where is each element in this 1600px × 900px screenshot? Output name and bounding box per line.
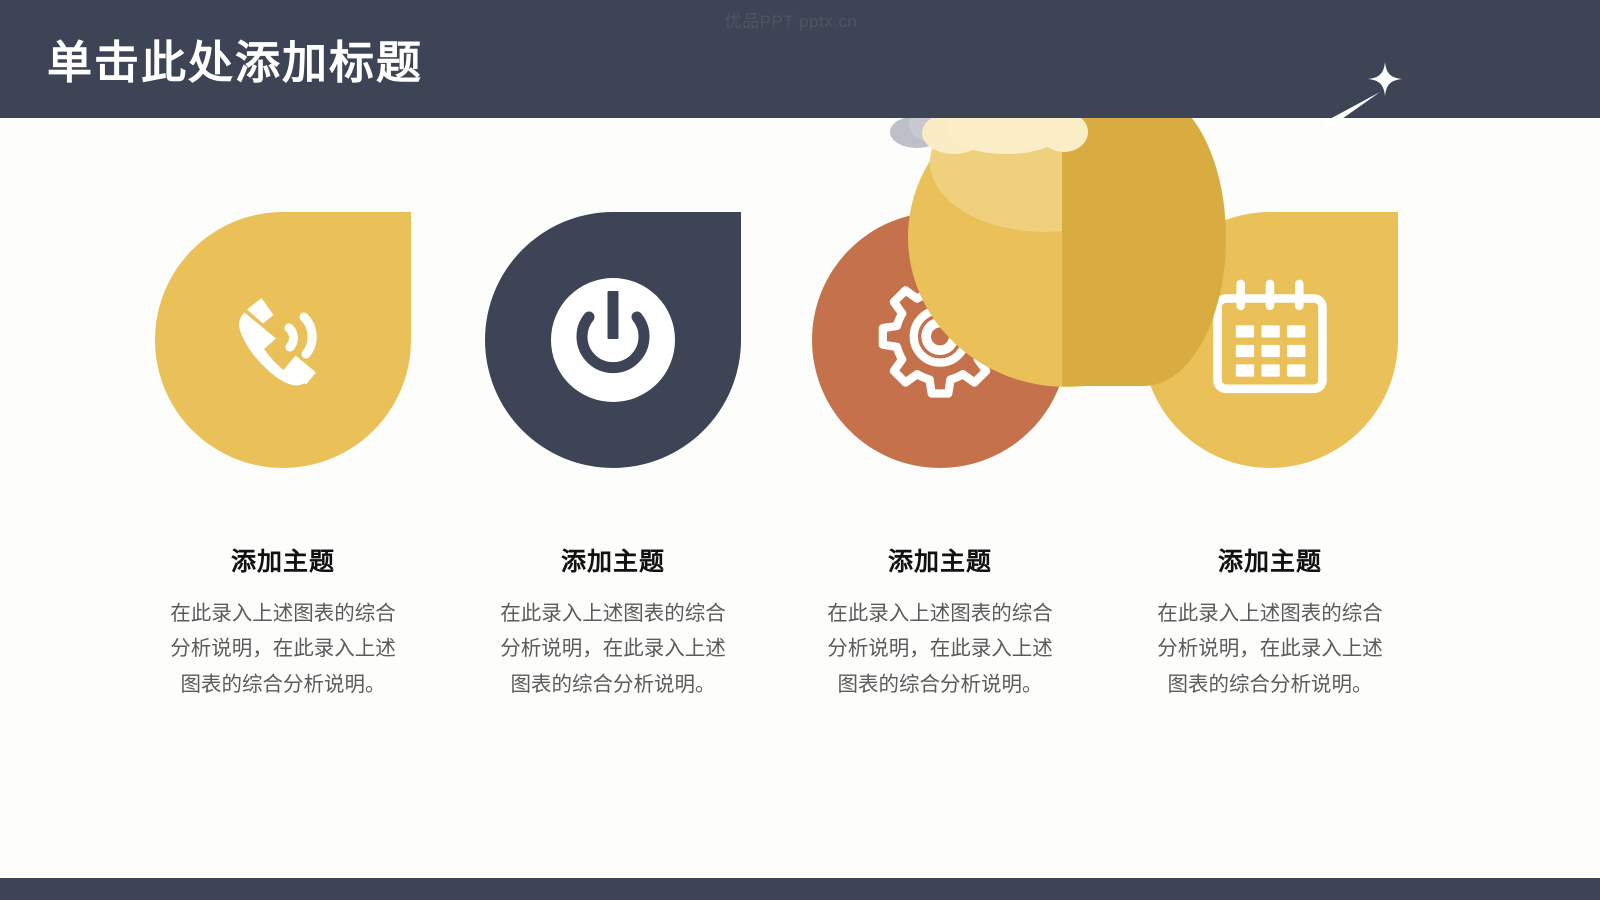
calendar-icon	[1209, 279, 1331, 401]
shooting-star-icon	[1322, 92, 1382, 130]
header-watermark: 优品PPT pptx.cn	[676, 7, 906, 32]
card-title: 添加主题	[155, 550, 411, 575]
power-icon	[547, 274, 679, 406]
sparkle-icon	[1368, 62, 1402, 96]
card-power[interactable]: 添加主题 在此录入上述图表的综合分析说明，在此录入上述图表的综合分析说明。	[485, 212, 741, 872]
phone-call-icon	[217, 274, 349, 406]
slide-footer	[0, 878, 1600, 900]
card-shape-phone[interactable]	[155, 212, 411, 468]
card-phone[interactable]: 添加主题 在此录入上述图表的综合分析说明，在此录入上述图表的综合分析说明。	[155, 212, 411, 872]
cards-row: 添加主题 在此录入上述图表的综合分析说明，在此录入上述图表的综合分析说明。 添加…	[0, 118, 1600, 878]
card-body-text: 在此录入上述图表的综合分析说明，在此录入上述图表的综合分析说明。	[494, 596, 732, 702]
card-title: 添加主题	[1142, 550, 1398, 575]
card-shape-power[interactable]	[485, 212, 741, 468]
page-title: 单击此处添加标题	[47, 40, 423, 85]
card-title: 添加主题	[485, 550, 741, 575]
card-body-text: 在此录入上述图表的综合分析说明，在此录入上述图表的综合分析说明。	[164, 596, 402, 702]
card-body-text: 在此录入上述图表的综合分析说明，在此录入上述图表的综合分析说明。	[1151, 596, 1389, 702]
slide-canvas: 优品PPT pptx.cn 单击此处添加标题	[0, 0, 1600, 900]
card-body-text: 在此录入上述图表的综合分析说明，在此录入上述图表的综合分析说明。	[821, 596, 1059, 702]
cloud-cream-icon	[1040, 112, 1088, 152]
card-title: 添加主题	[812, 550, 1068, 575]
